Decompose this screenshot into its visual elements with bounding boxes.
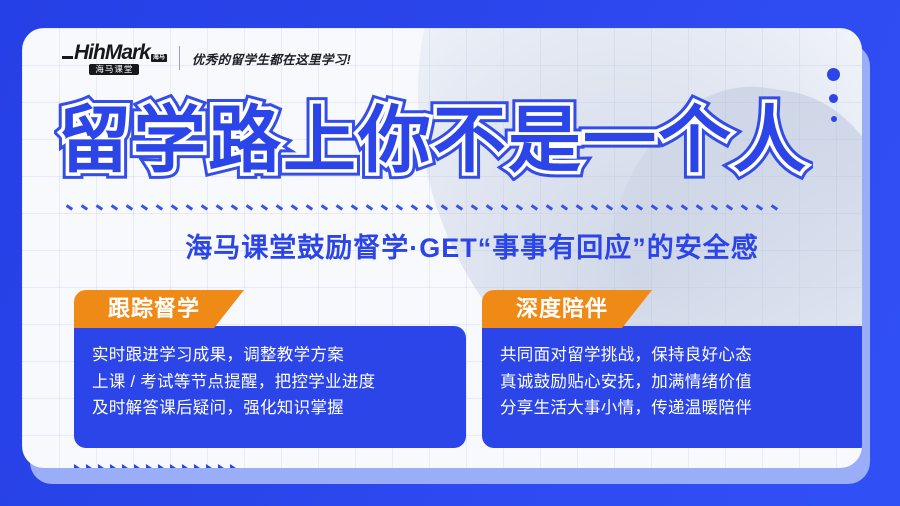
dash-mark-icon: [411, 204, 418, 210]
dash-mark-icon: [576, 204, 583, 210]
triangle-right-icon: [218, 464, 227, 468]
dash-mark-icon: [246, 204, 253, 210]
brand-logo: HihMark海马 海马课堂: [62, 42, 167, 75]
dash-mark-icon: [171, 204, 178, 210]
dash-mark-icon: [156, 204, 163, 210]
dash-mark-icon: [366, 204, 373, 210]
dash-mark-icon: [441, 204, 448, 210]
triangle-right-icon: [134, 464, 143, 468]
dashed-divider: [66, 202, 862, 212]
dash-mark-icon: [531, 204, 538, 210]
page-title: 留学路上你不是一个人: [58, 104, 862, 177]
brand-logo-wordmark: HihMark海马: [62, 42, 167, 63]
feature-line: 及时解答课后疑问，强化知识掌握: [92, 395, 448, 422]
dash-mark-icon: [471, 204, 478, 210]
dash-mark-icon: [591, 204, 598, 210]
dash-mark-icon: [396, 204, 403, 210]
feature-card-tracking-body: 实时跟进学习成果，调整教学方案 上课 / 考试等节点提醒，把控学业进度 及时解答…: [74, 326, 466, 448]
feature-line: 实时跟进学习成果，调整教学方案: [92, 342, 448, 369]
feature-line: 共同面对留学挑战，保持良好心态: [500, 342, 856, 369]
dash-mark-icon: [501, 204, 508, 210]
triangle-right-icon: [146, 464, 155, 468]
triangle-right-icon: [194, 464, 203, 468]
dash-mark-icon: [186, 204, 193, 210]
dash-mark-icon: [696, 204, 703, 210]
dash-mark-icon: [126, 204, 133, 210]
feature-cards: 跟踪督学 实时跟进学习成果，调整教学方案 上课 / 考试等节点提醒，把控学业进度…: [74, 290, 862, 448]
page-subtitle: 海马课堂鼓励督学·GET“事事有回应”的安全感: [22, 226, 862, 265]
triangle-right-icon: [230, 464, 239, 468]
dash-mark-icon: [351, 204, 358, 210]
dash-mark-icon: [231, 204, 238, 210]
dash-mark-icon: [321, 204, 328, 210]
dash-mark-icon: [546, 204, 553, 210]
feature-card-companionship-tab: 深度陪伴: [482, 290, 652, 328]
dash-mark-icon: [771, 204, 778, 210]
logo-dash-icon: [62, 56, 73, 59]
triangle-right-icon: [110, 464, 119, 468]
dash-mark-icon: [336, 204, 343, 210]
dash-mark-icon: [261, 204, 268, 210]
dash-mark-icon: [636, 204, 643, 210]
dash-mark-icon: [621, 204, 628, 210]
feature-card-companionship: 深度陪伴 共同面对留学挑战，保持良好心态 真诚鼓励贴心安抚，加满情绪价值 分享生…: [482, 290, 862, 448]
triangle-right-icon: [206, 464, 215, 468]
feature-card-companionship-body: 共同面对留学挑战，保持良好心态 真诚鼓励贴心安抚，加满情绪价值 分享生活大事小情…: [482, 326, 862, 448]
dash-mark-icon: [681, 204, 688, 210]
feature-line: 分享生活大事小情，传递温暖陪伴: [500, 395, 856, 422]
dash-mark-icon: [486, 204, 493, 210]
dash-mark-icon: [111, 204, 118, 210]
feature-card-tracking-tab: 跟踪督学: [74, 290, 244, 328]
brand-logo-text-a: Hi: [74, 42, 93, 63]
dash-mark-icon: [651, 204, 658, 210]
brand-logo-text-b: hMark: [93, 42, 150, 63]
dash-mark-icon: [711, 204, 718, 210]
dash-mark-icon: [606, 204, 613, 210]
brand-logo-subtitle: 海马课堂: [89, 64, 139, 75]
triangle-right-icon: [74, 464, 83, 468]
feature-line: 真诚鼓励贴心安抚，加满情绪价值: [500, 369, 856, 396]
dash-mark-icon: [741, 204, 748, 210]
triangle-right-icon: [182, 464, 191, 468]
feature-line: 上课 / 考试等节点提醒，把控学业进度: [92, 369, 448, 396]
dash-mark-icon: [201, 204, 208, 210]
dash-mark-icon: [141, 204, 148, 210]
triangle-right-icon: [122, 464, 131, 468]
triangle-right-icon: [158, 464, 167, 468]
dash-mark-icon: [81, 204, 88, 210]
triangle-right-icon: [170, 464, 179, 468]
feature-card-tracking: 跟踪督学 实时跟进学习成果，调整教学方案 上课 / 考试等节点提醒，把控学业进度…: [74, 290, 466, 448]
dash-mark-icon: [756, 204, 763, 210]
triangle-right-icon: [98, 464, 107, 468]
dash-mark-icon: [276, 204, 283, 210]
dash-mark-icon: [561, 204, 568, 210]
circle-icon-medium: [829, 94, 838, 103]
dash-mark-icon: [726, 204, 733, 210]
brand-logo-badge: 海马: [151, 54, 167, 62]
header-divider: [179, 46, 180, 70]
triangle-right-icon: [86, 464, 95, 468]
dash-mark-icon: [426, 204, 433, 210]
poster-canvas: HihMark海马 海马课堂 优秀的留学生都在这里学习! 留学路上你不是一个人 …: [0, 0, 900, 506]
dash-mark-icon: [381, 204, 388, 210]
main-panel: HihMark海马 海马课堂 优秀的留学生都在这里学习! 留学路上你不是一个人 …: [22, 28, 862, 468]
dash-mark-icon: [291, 204, 298, 210]
brand-header: HihMark海马 海马课堂 优秀的留学生都在这里学习!: [62, 42, 351, 75]
dash-mark-icon: [516, 204, 523, 210]
dash-mark-icon: [66, 204, 73, 210]
dash-mark-icon: [306, 204, 313, 210]
brand-tagline: 优秀的留学生都在这里学习!: [192, 49, 351, 68]
dash-mark-icon: [96, 204, 103, 210]
dash-mark-icon: [456, 204, 463, 210]
dash-mark-icon: [216, 204, 223, 210]
circle-icon-large: [827, 68, 840, 81]
decor-arrows: [74, 464, 239, 468]
dash-mark-icon: [666, 204, 673, 210]
